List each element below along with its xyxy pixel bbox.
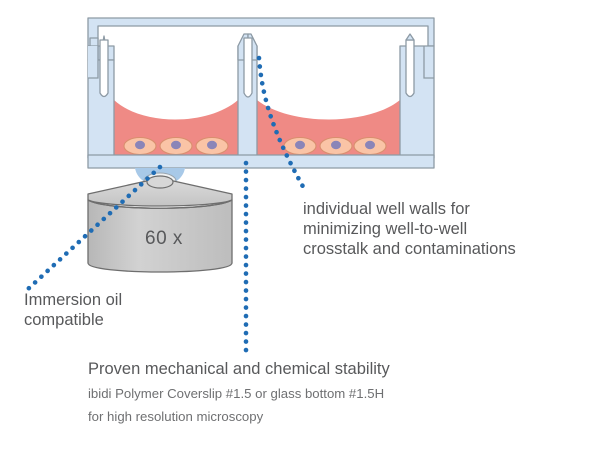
cell [354,138,386,155]
callout-well-walls-line-1: individual well walls for [303,199,516,219]
cell [124,138,156,155]
well-wall-right-tip [406,34,414,40]
callout-immersion-oil: Immersion oil compatible [24,290,122,330]
chamber-lid [88,18,434,46]
objective-magnification-label: 60 x [145,228,183,250]
objective-front-lens [147,176,173,188]
cell-group-left [124,138,228,155]
well-wall-center-slot [244,38,252,97]
well-wall-left-notch [88,46,98,78]
callout-stability-heading: Proven mechanical and chemical stability [88,359,390,379]
cell [320,138,352,155]
figure-root: 60 x individual well walls for minimizin… [0,0,600,449]
cell-group-right [284,138,386,155]
coverslip-bottom [88,155,434,168]
callout-well-walls: individual well walls for minimizing wel… [303,199,516,259]
cell [196,138,228,155]
cell [160,138,192,155]
callout-stability-sub-line-1: ibidi Polymer Coverslip #1.5 or glass bo… [88,386,390,402]
callout-stability-sub-line-2: for high resolution microscopy [88,409,390,425]
callout-immersion-oil-line-1: Immersion oil [24,290,122,310]
well-wall-left-slot [100,40,108,97]
callout-well-walls-line-3: crosstalk and contaminations [303,239,516,259]
cell [284,138,316,155]
callout-mechanical-stability: Proven mechanical and chemical stability… [88,359,390,425]
well-wall-right-body [400,46,434,158]
callout-well-walls-line-2: minimizing well-to-well [303,219,516,239]
callout-immersion-oil-line-2: compatible [24,310,122,330]
well-wall-right-slot [406,40,414,97]
